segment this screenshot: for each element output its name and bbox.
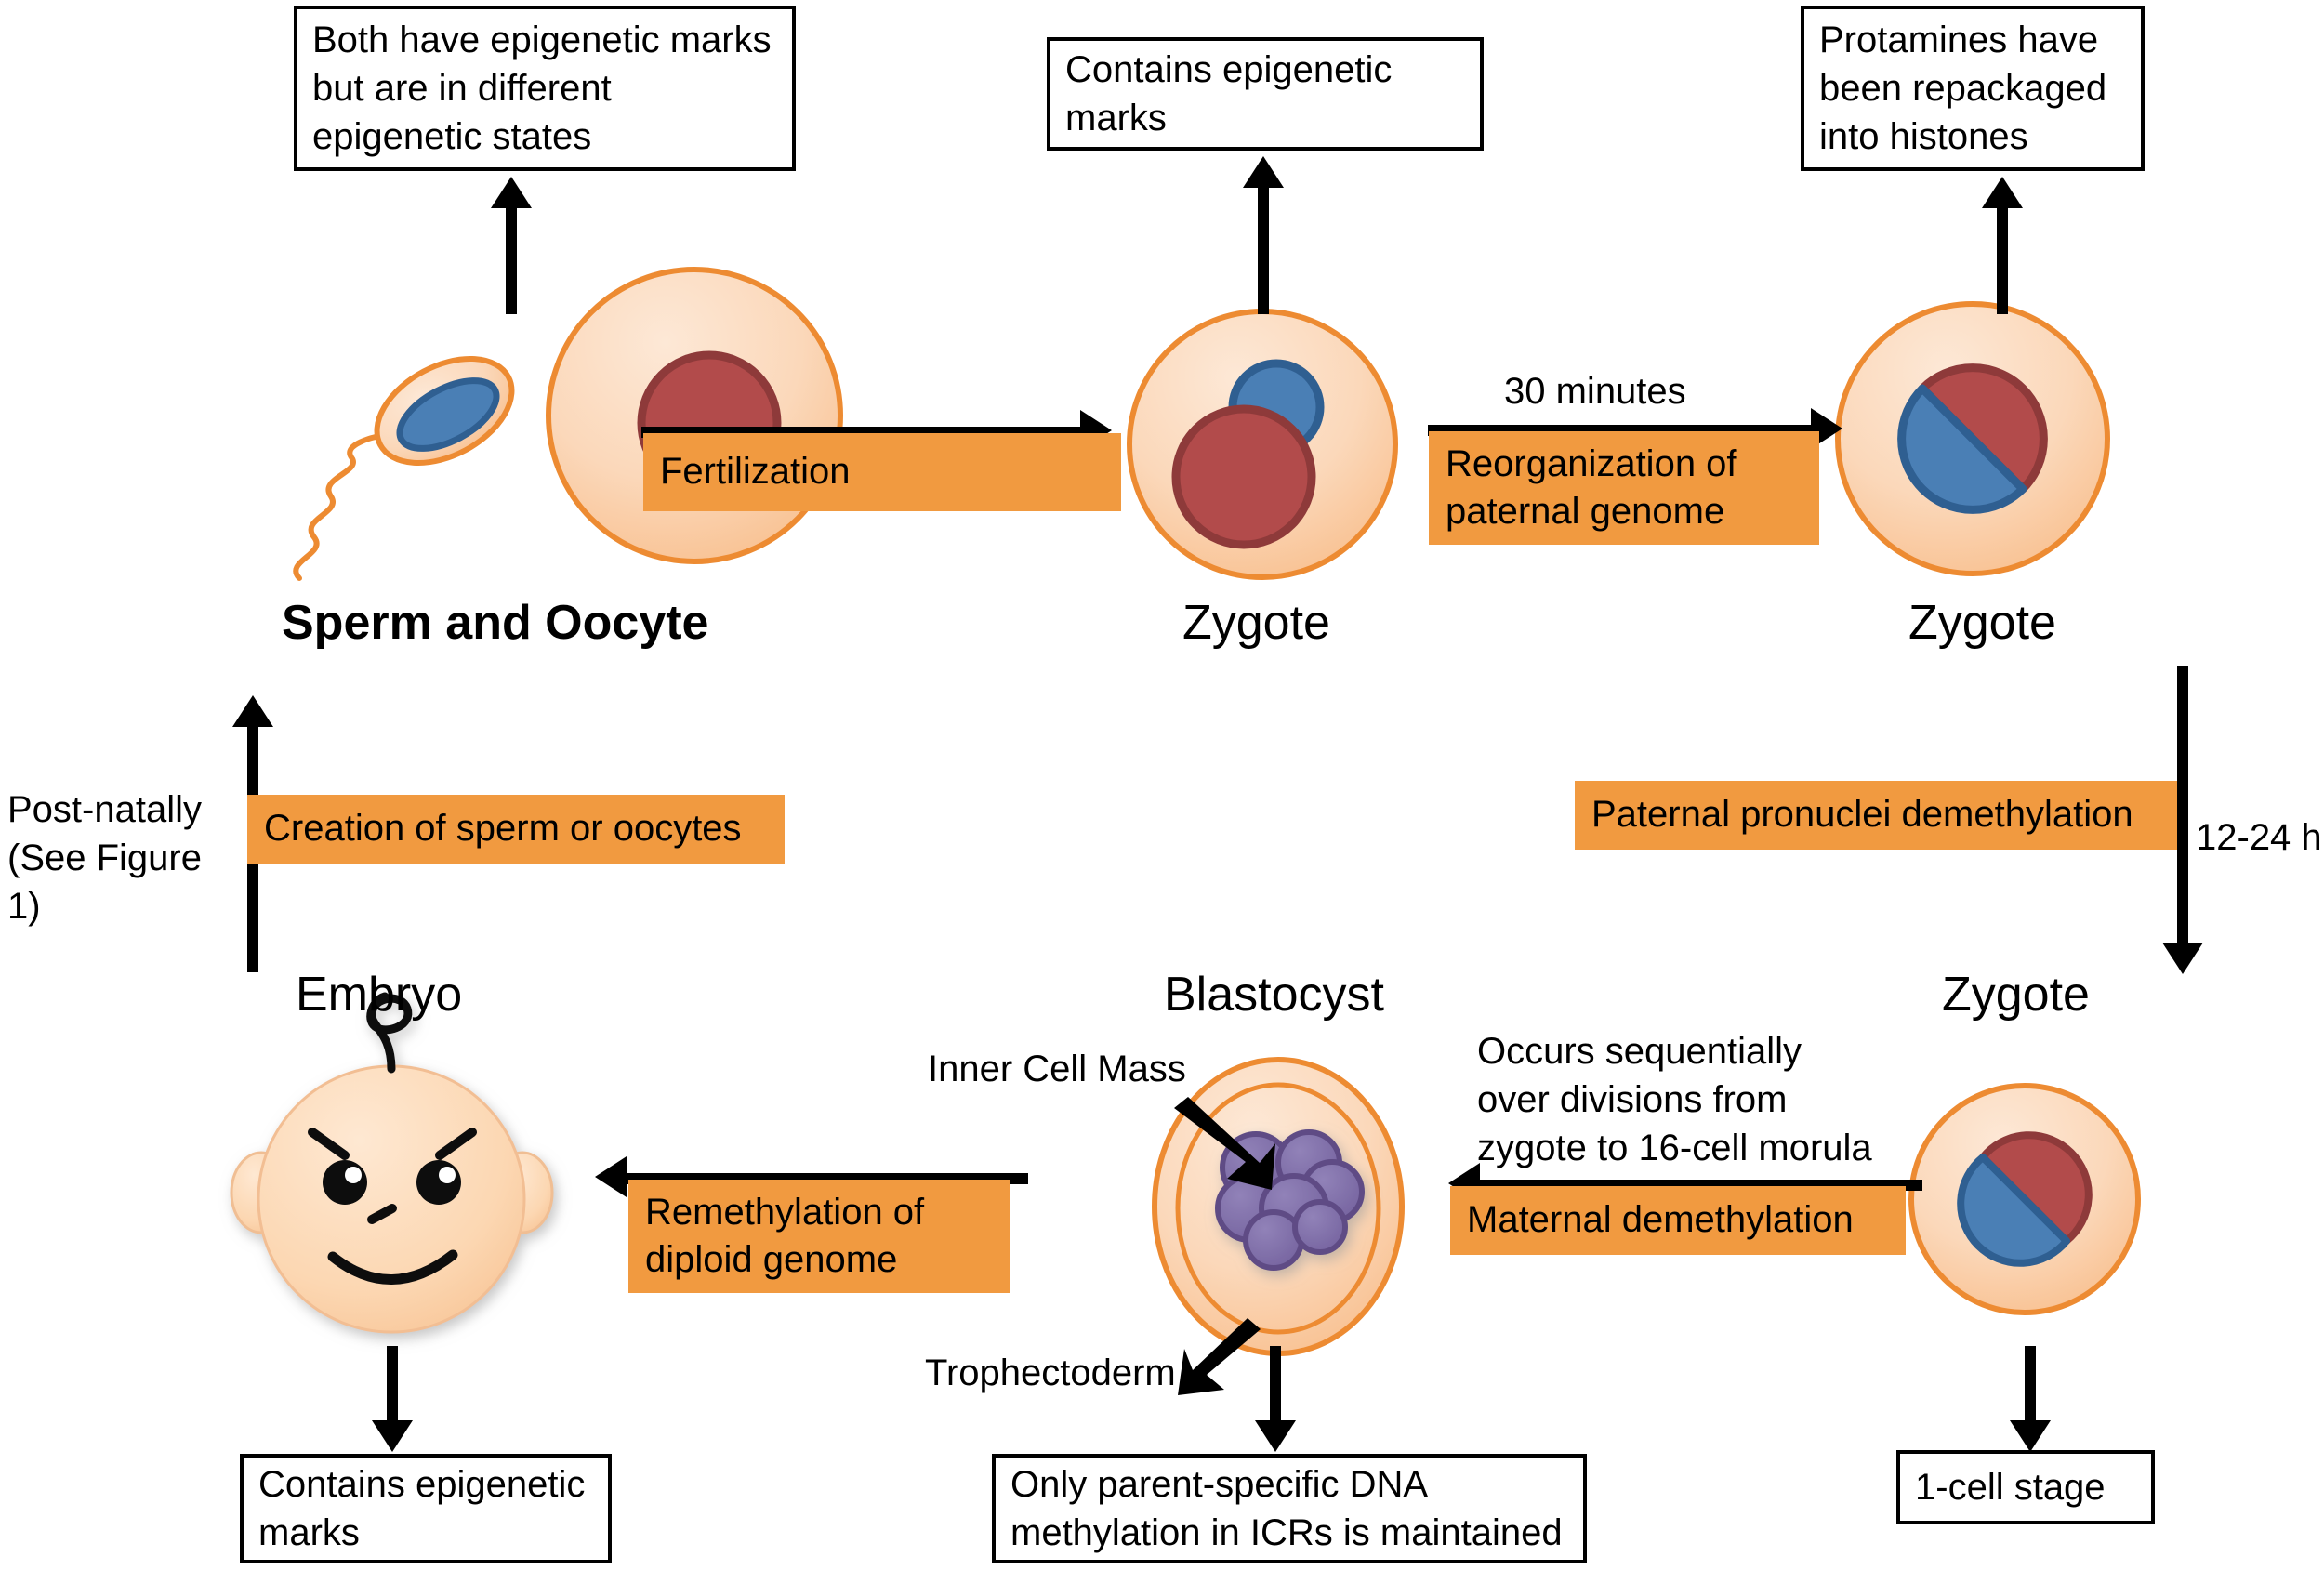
sperm-and-oocyte-illustration — [296, 270, 840, 578]
label-trophectoderm: Trophectoderm — [925, 1349, 1176, 1397]
zygote-two-pronuclei-illustration — [1129, 311, 1395, 577]
zygote-fused-nucleus-illustration-bottom — [1911, 1086, 2138, 1313]
annotation-30-minutes: 30 minutes — [1504, 367, 1686, 416]
diagram-canvas: Both have epigenetic marks but are in di… — [0, 0, 2324, 1570]
annotation-12-24h: 12-24 h — [2196, 813, 2322, 862]
inner-cell-mass-pointer-arrow — [1174, 1097, 1275, 1190]
stage-label-embryo: Embryo — [296, 967, 462, 1022]
trophectoderm-pointer-arrow — [1178, 1318, 1261, 1395]
stage-label-blastocyst: Blastocyst — [1164, 967, 1384, 1022]
blastocyst-illustration — [1155, 1060, 1402, 1353]
stage-label-sperm-oocyte: Sperm and Oocyte — [282, 595, 708, 651]
process-bar-creation: Creation of sperm or oocytes — [247, 795, 785, 864]
label-inner-cell-mass: Inner Cell Mass — [928, 1045, 1186, 1093]
embryo-baby-illustration — [231, 996, 552, 1332]
process-bar-reorganization: Reorganization of paternal genome — [1429, 431, 1819, 545]
zygote-fused-nucleus-illustration-top — [1838, 304, 2107, 574]
stage-label-zygote-1: Zygote — [1182, 595, 1330, 651]
callout-embryo: Contains epigenetic marks — [240, 1454, 612, 1563]
process-bar-maternal-demethylation: Maternal demethylation — [1450, 1186, 1906, 1255]
stage-label-zygote-3: Zygote — [1942, 967, 2090, 1022]
callout-zygote-4: 1-cell stage — [1896, 1450, 2155, 1524]
annotation-post-natally: Post-natally (See Figure 1) — [7, 785, 231, 930]
callout-blastocyst: Only parent-specific DNA methylation in … — [992, 1454, 1587, 1563]
callout-sperm-oocyte: Both have epigenetic marks but are in di… — [294, 6, 796, 171]
callout-zygote-2: Protamines have been repackaged into his… — [1801, 6, 2145, 171]
process-bar-fertilization: Fertilization — [643, 433, 1121, 511]
inner-cell-mass-cluster — [1218, 1132, 1362, 1268]
stage-label-zygote-2: Zygote — [1908, 595, 2056, 651]
callout-zygote-1: Contains epigenetic marks — [1047, 37, 1484, 151]
process-bar-remethylation: Remethylation of diploid genome — [628, 1180, 1010, 1293]
process-bar-paternal-demethylation: Paternal pronuclei demethylation — [1575, 781, 2177, 850]
